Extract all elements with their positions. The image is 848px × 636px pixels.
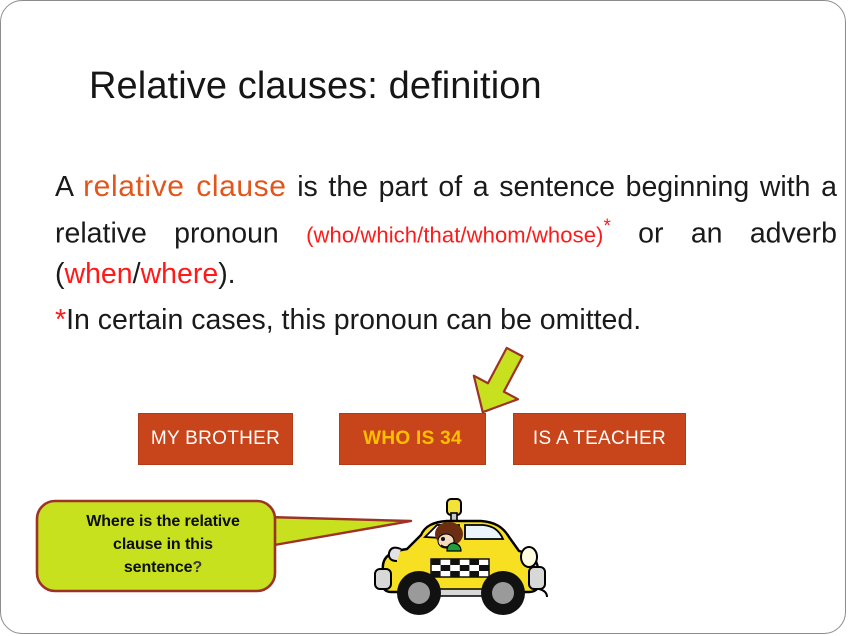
sentence-box-relative-clause[interactable]: WHO IS 34 <box>339 413 486 465</box>
callout-text: Where is the relative clause in this sen… <box>57 510 269 579</box>
definition-term: relative clause <box>83 170 286 203</box>
down-left-arrow-icon <box>441 339 537 415</box>
footnote-marker: * <box>603 216 610 237</box>
footnote-text: In certain cases, this pronoun can be om… <box>66 304 641 336</box>
callout-line-2: clause in this <box>113 536 213 553</box>
callout-line-3: sentence <box>124 559 193 576</box>
page-title: Relative clauses: definition <box>89 65 542 108</box>
callout-question-mark: ? <box>192 559 202 576</box>
footnote-paragraph: *In certain cases, this pronoun can be o… <box>55 301 837 339</box>
adverb-when: when <box>65 258 133 290</box>
sentence-box-predicate[interactable]: IS A TEACHER <box>513 413 686 465</box>
sentence-parts-row: MY BROTHER WHO IS 34 IS A TEACHER <box>1 413 846 467</box>
definition-text-a: A <box>55 171 83 203</box>
sentence-box-label: MY BROTHER <box>151 428 280 450</box>
adverb-where: where <box>141 258 219 290</box>
definition-paragraph: A relative clause is the part of a sente… <box>55 167 837 294</box>
sentence-box-label: IS A TEACHER <box>533 428 666 450</box>
callout-line-1: Where is the relative <box>86 513 240 530</box>
taxi-roof-light-icon <box>447 499 461 521</box>
taxi-cab-illustration <box>363 493 553 621</box>
question-callout: Where is the relative clause in this sen… <box>35 499 415 595</box>
relative-pronoun-list: (who/which/that/whom/whose) <box>306 223 603 248</box>
definition-text-d: ). <box>218 258 235 290</box>
definition-slash: / <box>133 258 141 290</box>
taxi-wheel <box>397 571 441 615</box>
sentence-box-subject[interactable]: MY BROTHER <box>138 413 293 465</box>
sentence-box-label: WHO IS 34 <box>363 428 462 450</box>
footnote-asterisk: * <box>55 304 66 336</box>
taxi-checker-stripe <box>431 559 489 577</box>
definition-block: A relative clause is the part of a sente… <box>55 167 837 339</box>
slide-canvas: Relative clauses: definition A relative … <box>0 0 846 634</box>
taxi-wheel <box>481 571 525 615</box>
